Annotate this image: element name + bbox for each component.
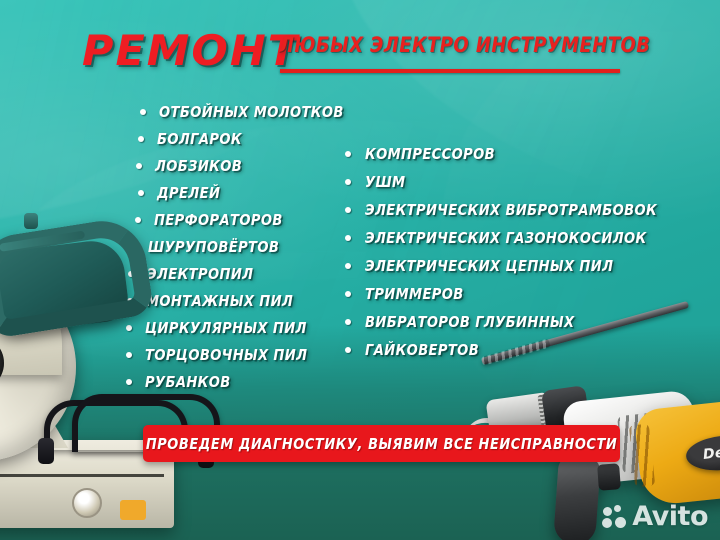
saw-rail-foot-left [38,438,54,464]
bullet-icon [345,319,351,325]
diagnostics-banner: ПРОВЕДЕМ ДИАГНОСТИКУ, ВЫЯВИМ ВСЕ НЕИСПРА… [143,425,620,462]
bullet-icon [345,179,351,185]
page-title: РЕМОНТ [82,26,299,75]
service-label: ПЕРФОРАТОРОВ [154,211,283,229]
list-item: ПЕРФОРАТОРОВ [126,206,349,233]
saw-lock-knob [24,213,38,229]
list-item: ЭЛЕКТРИЧЕСКИХ ЦЕПНЫХ ПИЛ [345,252,666,280]
avito-logo-icon [602,505,626,529]
hammer-grip [553,455,601,540]
diagnostics-banner-text: ПРОВЕДЕМ ДИАГНОСТИКУ, ВЫЯВИМ ВСЕ НЕИСПРА… [146,435,618,453]
bullet-icon [135,217,141,223]
service-label: УШМ [365,173,405,191]
list-item: БОЛГАРОК [126,125,349,152]
bullet-icon [138,136,144,142]
page-subtitle: ЛЮБЫХ ЭЛЕКТРО ИНСТРУМЕНТОВ [279,33,650,57]
list-item: ЭЛЕКТРИЧЕСКИХ ВИБРОТРАМБОВОК [345,196,666,224]
bullet-icon [345,263,351,269]
service-label: ВИБРАТОРОВ ГЛУБИННЫХ [365,313,575,331]
list-item: ЛОБЗИКОВ [126,152,349,179]
bullet-icon [345,207,351,213]
title-underline [280,69,620,73]
service-label: БОЛГАРОК [157,130,242,148]
bullet-icon [136,163,142,169]
bullet-icon [345,291,351,297]
list-item: КОМПРЕССОРОВ [345,140,666,168]
service-label: ЭЛЕКТРИЧЕСКИХ ГАЗОНОКОСИЛОК [365,229,647,247]
list-item: ТРИММЕРОВ [345,280,666,308]
bullet-icon [345,347,351,353]
header: РЕМОНТ ЛЮБЫХ ЭЛЕКТРО ИНСТРУМЕНТОВ [0,0,720,90]
saw-dial [72,488,102,518]
bullet-icon [345,235,351,241]
service-label: ГАЙКОВЕРТОВ [365,341,479,359]
service-label: ЭЛЕКТРИЧЕСКИХ ЦЕПНЫХ ПИЛ [365,257,613,275]
hammer-brand-text: Defo [702,443,720,463]
miter-saw-illustration [0,235,214,540]
list-item: ОТБОЙНЫХ МОЛОТКОВ [126,98,349,125]
saw-warning-label [120,500,146,520]
service-label: ТРИММЕРОВ [365,285,464,303]
avito-watermark-text: Avito [632,503,708,530]
list-item: ЭЛЕКТРИЧЕСКИХ ГАЗОНОКОСИЛОК [345,224,666,252]
list-item: ДРЕЛЕЙ [126,179,349,206]
bullet-icon [138,190,144,196]
bullet-icon [345,151,351,157]
service-label: КОМПРЕССОРОВ [365,145,495,163]
service-label: ЭЛЕКТРИЧЕСКИХ ВИБРОТРАМБОВОК [365,201,657,219]
service-label: ДРЕЛЕЙ [157,184,220,202]
saw-handle [0,215,155,340]
service-label: ОТБОЙНЫХ МОЛОТКОВ [159,103,344,121]
bullet-icon [140,109,146,115]
hammer-trigger [597,463,621,490]
avito-watermark: Avito [602,503,708,530]
advertisement-poster: Defo РЕМОНТ ЛЮБЫХ ЭЛЕКТРО ИНСТРУМЕНТОВ О… [0,0,720,540]
service-list-right: КОМПРЕССОРОВ УШМ ЭЛЕКТРИЧЕСКИХ ВИБРОТРАМ… [345,140,666,364]
service-label: ЛОБЗИКОВ [155,157,242,175]
list-item: УШМ [345,168,666,196]
